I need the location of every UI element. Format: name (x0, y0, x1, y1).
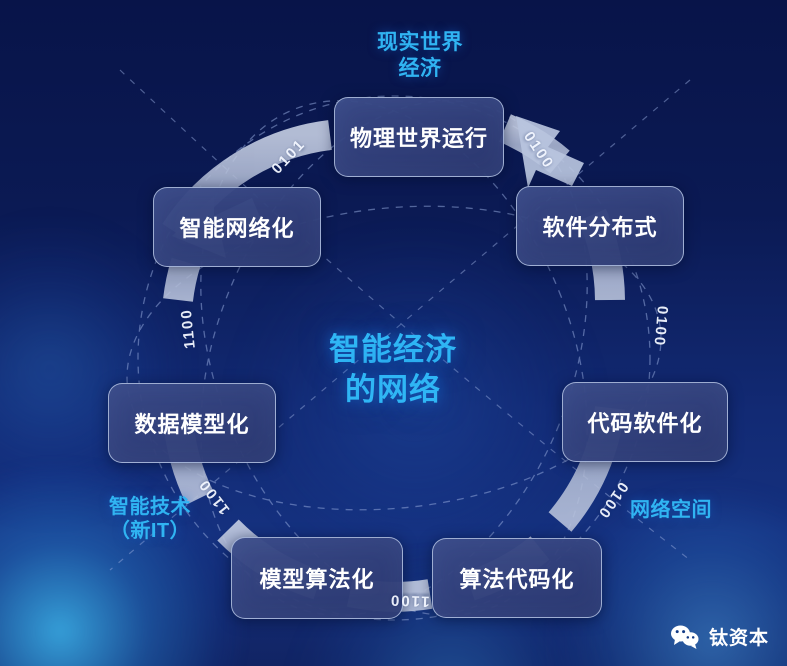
node-label: 软件分布式 (542, 210, 657, 242)
label-real-world-line1: 现实世界 (330, 30, 510, 56)
node-label: 模型算法化 (259, 562, 374, 594)
node-algorithm-to-code[interactable]: 算法代码化 (432, 538, 602, 618)
binary-label-arc-right: 0100 (650, 305, 671, 348)
watermark-text: 钛资本 (709, 623, 769, 650)
center-title-line2: 的网络 (283, 370, 503, 410)
node-physical-world-operation[interactable]: 物理世界运行 (334, 97, 504, 177)
node-label: 智能网络化 (179, 211, 294, 243)
node-label: 物理世界运行 (350, 121, 488, 153)
binary-label-arc-bottom: 1100 (389, 591, 430, 609)
node-model-to-algorithm[interactable]: 模型算法化 (231, 537, 403, 619)
label-smart-tech-line2: （新IT） (60, 519, 240, 543)
center-title: 智能经济 的网络 (283, 330, 503, 411)
wechat-icon (670, 624, 700, 650)
watermark: 钛资本 (670, 623, 769, 650)
label-real-world-economy: 现实世界 经济 (330, 30, 510, 81)
node-data-to-model[interactable]: 数据模型化 (108, 383, 276, 463)
node-software-distributed[interactable]: 软件分布式 (516, 186, 684, 266)
node-label: 代码软件化 (587, 406, 702, 438)
node-intelligent-networking[interactable]: 智能网络化 (153, 187, 321, 267)
node-label: 数据模型化 (134, 407, 249, 439)
label-real-world-line2: 经济 (330, 56, 510, 82)
node-label: 算法代码化 (459, 562, 574, 594)
node-code-softwarization[interactable]: 代码软件化 (562, 382, 728, 462)
label-cyberspace: 网络空间 (630, 498, 780, 522)
center-title-line1: 智能经济 (283, 330, 503, 370)
diagram-canvas: 现实世界 经济 智能技术 （新IT） 网络空间 智能经济 的网络 物理世界运行 … (0, 0, 787, 666)
